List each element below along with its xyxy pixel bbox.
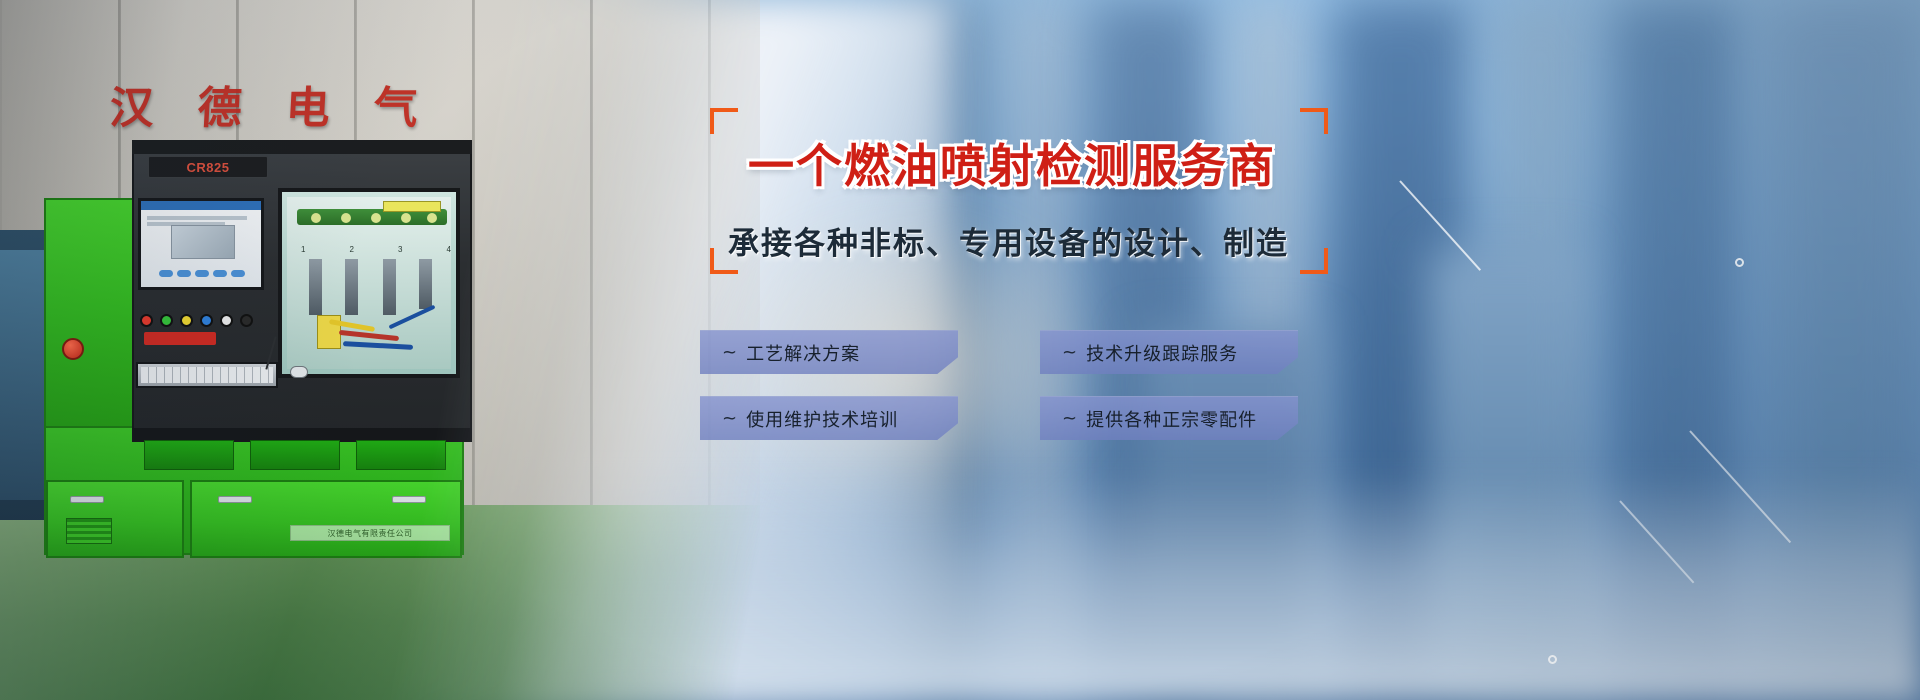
bench-monitor[interactable] [138, 198, 264, 290]
machine-brand-plate: 汉德电气有限责任公司 [290, 525, 450, 541]
bench-top-bar [132, 140, 472, 154]
tag-tilde-icon: ~ [722, 408, 738, 429]
bench-drawer[interactable] [190, 480, 462, 558]
service-tag-row: ~ 工艺解决方案 ~ 技术升级跟踪服务 [700, 330, 1400, 374]
injector [309, 259, 322, 315]
tag-tilde-icon: ~ [1062, 342, 1078, 363]
service-tag-tech-upgrade[interactable]: ~ 技术升级跟踪服务 [1040, 330, 1298, 374]
hose-red [339, 330, 399, 341]
fuel-injection-test-bench: CR825 [40, 140, 570, 525]
hose-blue [343, 341, 413, 350]
service-tag-parts-supply[interactable]: ~ 提供各种正宗零配件 [1040, 396, 1298, 440]
service-tag-training[interactable]: ~ 使用维护技术培训 [700, 396, 958, 440]
channel-number: 2 [350, 245, 354, 254]
control-button-black[interactable] [240, 314, 253, 327]
control-button-yellow[interactable] [180, 314, 193, 327]
machine-model-label: CR825 [148, 156, 268, 178]
injector [383, 259, 396, 315]
control-button-white[interactable] [220, 314, 233, 327]
service-tag-label: 使用维护技术培训 [746, 406, 898, 432]
hero-headline: 一个燃油喷射检测服务商 [748, 140, 1328, 193]
injector-channel-numbers: 1 2 3 4 [301, 245, 451, 254]
channel-number: 4 [447, 245, 451, 254]
tag-tilde-icon: ~ [1062, 408, 1078, 429]
bench-vent [356, 440, 446, 470]
wall-calligraphy-char: 汉 [108, 72, 155, 136]
bench-drawer[interactable] [46, 480, 184, 558]
service-tag-list: ~ 工艺解决方案 ~ 技术升级跟踪服务 ~ 使用维护技术培训 ~ 提供各种正宗零… [700, 330, 1400, 462]
warning-label [383, 201, 441, 212]
hero-banner: 汉 德 电 气 CR825 [0, 0, 1920, 700]
hero-content: 一个燃油喷射检测服务商 承接各种非标、专用设备的设计、制造 ~ 工艺解决方案 ~… [700, 0, 1400, 700]
service-tag-label: 提供各种正宗零配件 [1086, 406, 1257, 432]
bench-vent [144, 440, 234, 470]
bench-keyboard[interactable] [136, 362, 278, 388]
decor-dot [1735, 258, 1744, 267]
corner-bracket-top-right [1300, 108, 1328, 134]
channel-number: 3 [398, 245, 402, 254]
injector [419, 259, 432, 309]
service-tag-process-solution[interactable]: ~ 工艺解决方案 [700, 330, 958, 374]
emergency-stop-button[interactable] [62, 338, 84, 360]
tag-tilde-icon: ~ [722, 342, 738, 363]
control-button-blue[interactable] [200, 314, 213, 327]
bench-test-chamber-window: 1 2 3 4 [278, 188, 460, 378]
hero-subheadline: 承接各种非标、专用设备的设计、制造 [728, 218, 1348, 263]
bench-mouse[interactable] [290, 366, 308, 378]
bench-left-cabinet [44, 198, 140, 428]
service-tag-row: ~ 使用维护技术培训 ~ 提供各种正宗零配件 [700, 396, 1400, 440]
bench-button-row[interactable] [140, 310, 260, 330]
wall-calligraphy-char: 气 [372, 72, 419, 136]
injector [345, 259, 358, 315]
channel-number: 1 [301, 245, 305, 254]
corner-bracket-top-left [710, 108, 738, 134]
product-photo: 汉 德 电 气 CR825 [0, 0, 760, 700]
control-button-green[interactable] [160, 314, 173, 327]
control-red-label [144, 332, 216, 345]
bench-vent [250, 440, 340, 470]
decor-dot [1548, 655, 1557, 664]
wall-calligraphy-char: 电 [284, 72, 331, 136]
wall-calligraphy: 汉 德 电 气 [108, 72, 531, 136]
control-button-red[interactable] [140, 314, 153, 327]
service-tag-label: 技术升级跟踪服务 [1086, 340, 1238, 366]
wall-calligraphy-char: 德 [196, 72, 243, 136]
service-tag-label: 工艺解决方案 [746, 340, 860, 366]
